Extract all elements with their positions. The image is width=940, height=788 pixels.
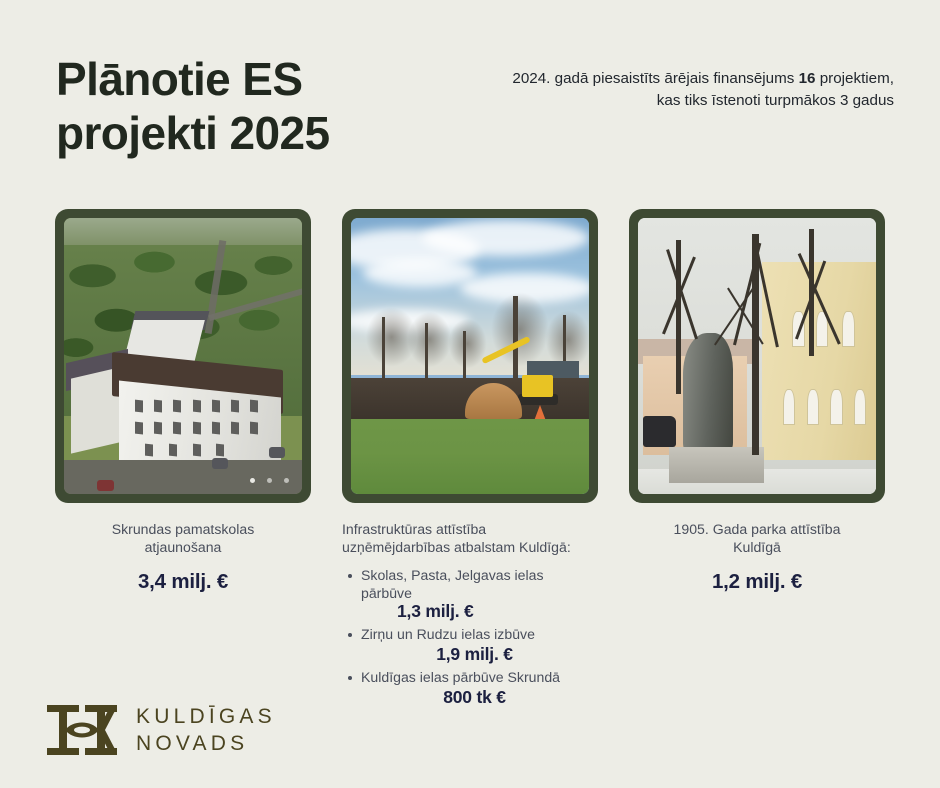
bullet-amount: 1,3 milj. € <box>397 601 474 622</box>
subtitle-line-2: kas tiks īstenoti turpmākos 3 gadus <box>657 92 894 109</box>
carousel-dot-inactive[interactable] <box>284 478 289 483</box>
photo-window <box>193 421 201 434</box>
page-title: Plānotie ES projekti 2025 <box>56 52 329 161</box>
photo-excavator-body <box>522 375 553 397</box>
project-card-infrastructure[interactable]: Infrastruktūras attīstība uzņēmējdarbība… <box>342 209 598 712</box>
photo-window <box>250 399 258 412</box>
photo-window <box>231 399 239 412</box>
logo[interactable]: KULDĪGAS NOVADS <box>47 703 276 758</box>
card-amount: 1,2 milj. € <box>629 570 885 594</box>
photo-park-statue <box>638 218 876 494</box>
list-item: Kuldīgas ielas pārbūve Skrundā 800 tk € <box>342 668 598 708</box>
photo-window <box>250 421 258 434</box>
carousel-dot-active[interactable] <box>250 478 255 483</box>
photo-window <box>173 421 181 434</box>
project-card-skrunda-school[interactable]: Skrundas pamatskolas atjaunošana 3,4 mil… <box>55 209 311 594</box>
photo-window <box>135 421 143 434</box>
header-subtitle: 2024. gadā piesaistīts ārējais finansēju… <box>512 52 894 112</box>
photo-cloud <box>422 220 589 256</box>
bullet-text: Kuldīgas ielas pārbūve Skrundā <box>361 668 598 686</box>
photo-window <box>154 421 162 434</box>
photo-car <box>212 458 229 469</box>
bullet-amount: 1,9 milj. € <box>351 644 598 665</box>
photo-window <box>807 389 819 425</box>
photo-statue <box>683 333 733 454</box>
photo-window <box>173 399 181 412</box>
list-item: Skolas, Pasta, Jelgavas ielas pārbūve 1,… <box>342 566 598 622</box>
photo-window <box>783 389 795 425</box>
photo-frame[interactable] <box>55 209 311 503</box>
photo-yellow-building <box>762 262 876 461</box>
photo-window <box>193 443 201 456</box>
logo-wordmark: KULDĪGAS NOVADS <box>136 703 276 758</box>
project-card-park-1905[interactable]: 1905. Gada parka attīstība Kuldīgā 1,2 m… <box>629 209 885 594</box>
photo-car <box>269 447 286 458</box>
photo-frame[interactable] <box>342 209 598 503</box>
photo-tree-trunk <box>676 240 681 395</box>
photo-window <box>231 421 239 434</box>
card-amount: 3,4 milj. € <box>55 570 311 594</box>
photo-window <box>830 389 842 425</box>
photo-grass <box>351 419 589 494</box>
photo-car <box>643 416 676 446</box>
photo-construction-site <box>351 218 589 494</box>
list-item: Zirņu un Rudzu ielas izbūve 1,9 milj. € <box>342 625 598 665</box>
photo-car <box>97 480 114 491</box>
card-caption: 1905. Gada parka attīstība Kuldīgā <box>629 520 885 557</box>
kuldigas-novads-emblem-icon <box>47 703 117 757</box>
bullet-text: Zirņu un Rudzu ielas izbūve <box>361 625 598 643</box>
bullet-text: Skolas, Pasta, Jelgavas ielas pārbūve <box>361 566 598 603</box>
photo-frame[interactable] <box>629 209 885 503</box>
card-caption: Infrastruktūras attīstība uzņēmējdarbība… <box>342 520 598 557</box>
photo-window <box>154 399 162 412</box>
photo-window <box>169 443 177 456</box>
photo-window <box>193 399 201 412</box>
photo-window <box>842 311 854 347</box>
photo-window <box>145 443 153 456</box>
photo-window <box>854 389 866 425</box>
carousel-dots[interactable] <box>250 478 289 483</box>
photo-aerial-school <box>64 218 302 494</box>
project-cards: Skrundas pamatskolas atjaunošana 3,4 mil… <box>0 161 940 712</box>
photo-statue-plinth <box>669 447 764 483</box>
bullet-amount: 800 tk € <box>351 687 598 708</box>
subtitle-text-pre: 2024. gadā piesaistīts ārējais finansēju… <box>512 70 798 87</box>
photo-window <box>212 421 220 434</box>
subtitle-text-post: projektiem, <box>816 70 895 87</box>
card-caption: Skrundas pamatskolas atjaunošana <box>55 520 311 557</box>
photo-window <box>135 399 143 412</box>
project-bullet-list: Skolas, Pasta, Jelgavas ielas pārbūve 1,… <box>342 566 598 708</box>
photo-window <box>212 399 220 412</box>
subtitle-project-count: 16 <box>799 70 816 87</box>
header: Plānotie ES projekti 2025 2024. gadā pie… <box>0 0 940 161</box>
photo-window <box>216 443 224 456</box>
carousel-dot-inactive[interactable] <box>267 478 272 483</box>
